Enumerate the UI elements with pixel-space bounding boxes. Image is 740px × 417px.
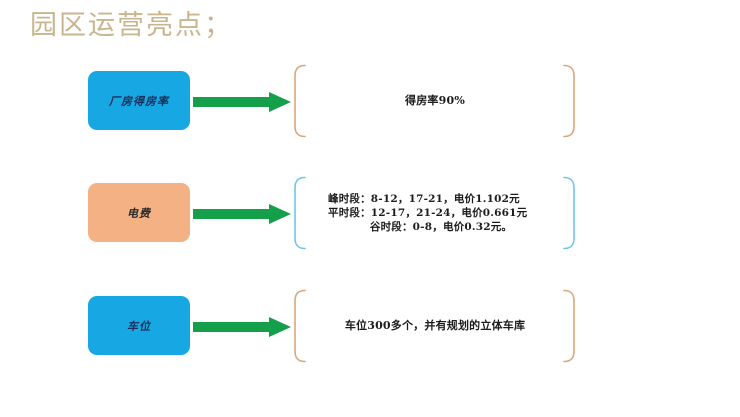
highlight-row: 电费 峰时段：8-12，17-21，电价1.102元 平时段：12-17，21-… (0, 172, 740, 254)
label-box-parking[interactable]: 车位 (88, 296, 190, 355)
green-right-arrow-icon (193, 92, 291, 112)
label-box-electricity-fee[interactable]: 电费 (88, 183, 190, 242)
content-line: 谷时段：0-8，电价0.32元。 (370, 220, 512, 234)
content-block: 车位300多个，并有规划的立体车库 (310, 289, 560, 363)
content-block: 得房率90% (310, 64, 560, 138)
label-box-text: 厂房得房率 (109, 93, 169, 109)
content-line: 平时段：12-17，21-24，电价0.661元 (328, 206, 527, 220)
right-bracket-icon (563, 64, 577, 138)
content-line: 峰时段：8-12，17-21，电价1.102元 (328, 192, 520, 206)
slide-canvas: 园区运营亮点； 厂房得房率 得房率90% 电费 (0, 0, 740, 417)
label-box-text: 电费 (127, 205, 151, 221)
right-bracket-icon (563, 289, 577, 363)
content-line: 得房率90% (405, 94, 465, 108)
content-line: 车位300多个，并有规划的立体车库 (345, 319, 525, 333)
green-right-arrow-icon (193, 317, 291, 337)
left-bracket-icon (292, 176, 306, 250)
left-bracket-icon (292, 64, 306, 138)
left-bracket-icon (292, 289, 306, 363)
right-bracket-icon (563, 176, 577, 250)
green-right-arrow-icon (193, 204, 291, 224)
page-title: 园区运营亮点； (30, 9, 233, 43)
content-block: 峰时段：8-12，17-21，电价1.102元 平时段：12-17，21-24，… (310, 176, 560, 250)
highlight-row: 车位 车位300多个，并有规划的立体车库 (0, 285, 740, 367)
highlight-row: 厂房得房率 得房率90% (0, 60, 740, 142)
label-box-text: 车位 (127, 318, 151, 334)
label-box-factory-usable-area[interactable]: 厂房得房率 (88, 71, 190, 130)
